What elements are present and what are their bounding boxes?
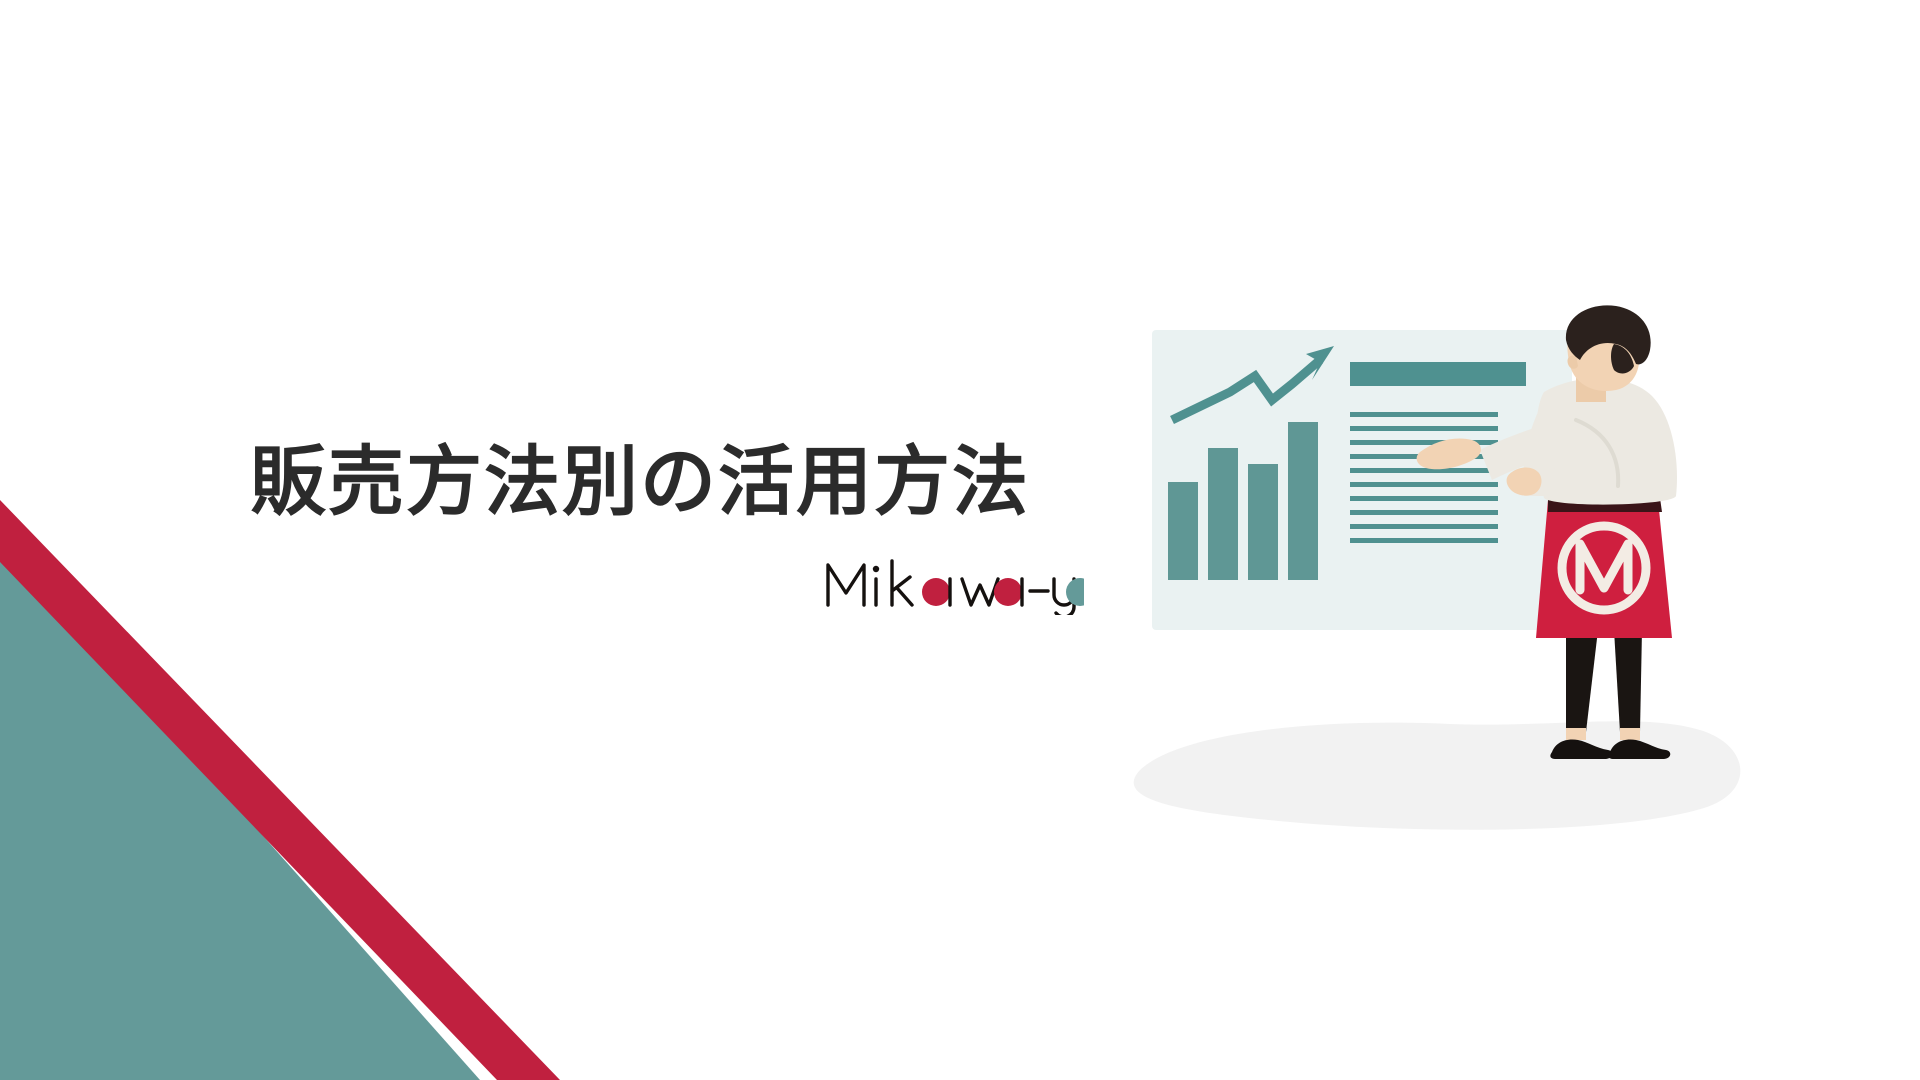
presenter-illustration-svg <box>1120 300 1780 860</box>
title-block: 販売方法別の活用方法 <box>250 440 1090 617</box>
board-header-bar <box>1350 362 1526 386</box>
teal-triangle <box>0 540 480 1080</box>
brand-wordmark-svg: Mikawa-ya <box>822 553 1084 615</box>
leg-left <box>1566 630 1598 732</box>
slide-canvas: 販売方法別の活用方法 <box>0 0 1920 1080</box>
brand-letter-i-dot <box>873 566 879 572</box>
leg-right <box>1614 630 1642 732</box>
ankle-right <box>1620 728 1640 740</box>
presenter-illustration <box>1120 300 1760 840</box>
brand-letter-a-2 <box>994 578 1022 606</box>
bar-2 <box>1208 448 1238 580</box>
apron <box>1536 500 1672 638</box>
brand-letter-a-3 <box>1066 578 1084 606</box>
floor-shadow <box>1134 721 1741 829</box>
ankle-left <box>1566 728 1586 740</box>
brand-wordmark: Mikawa-ya <box>250 553 1090 617</box>
bar-3 <box>1248 464 1278 580</box>
bar-4 <box>1288 422 1318 580</box>
brand-letter-a-1 <box>922 578 950 606</box>
page-title: 販売方法別の活用方法 <box>250 440 1090 525</box>
bar-1 <box>1168 482 1198 580</box>
